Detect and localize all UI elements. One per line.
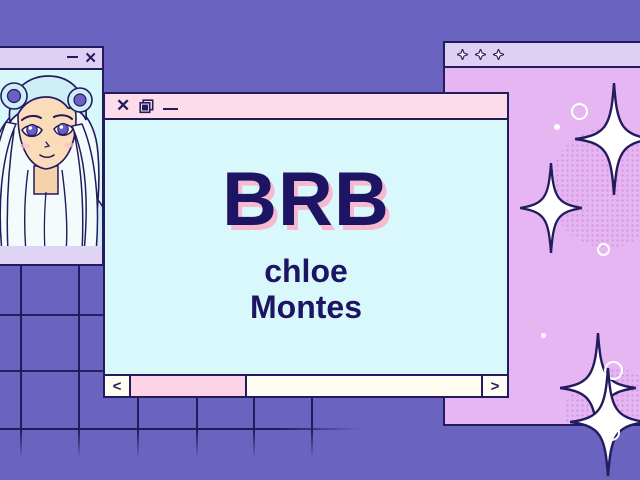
scrollbar-thumb[interactable] (131, 376, 247, 396)
brb-window[interactable]: ✕ BRB BRB chloe Montes < (103, 92, 509, 398)
restore-window-icon[interactable] (139, 99, 154, 114)
subtitle-line-1: chloe (264, 253, 348, 289)
minimize-icon[interactable] (67, 56, 78, 58)
dot-icon (554, 124, 560, 130)
brb-window-titlebar: ✕ (105, 94, 507, 120)
subtitle-line-2: Montes (250, 290, 362, 326)
anime-girl-illustration (0, 70, 102, 246)
diamond-sparkle-icon (457, 49, 468, 60)
scroll-right-button[interactable]: > (481, 376, 507, 396)
close-icon[interactable]: ✕ (116, 96, 130, 116)
outline-circle-icon (597, 243, 610, 256)
avatar-window-titlebar: ✕ (0, 48, 102, 70)
page-title-text: BRB (222, 157, 390, 242)
scroll-left-button[interactable]: < (105, 376, 131, 396)
horizontal-scrollbar[interactable]: < > (105, 374, 507, 396)
avatar-window-body (0, 70, 102, 264)
screenshot-canvas: ✕ (0, 0, 640, 480)
dot-icon (541, 333, 546, 338)
page-title: BRB BRB (222, 162, 390, 238)
four-point-star-icon (570, 368, 640, 476)
avatar-window[interactable]: ✕ (0, 46, 104, 266)
outline-circle-icon (603, 424, 620, 441)
sparkle-window-titlebar (445, 43, 640, 68)
brb-window-content: BRB BRB chloe Montes (105, 120, 507, 374)
subtitle: chloe Montes (250, 254, 362, 326)
minimize-icon[interactable] (163, 108, 178, 110)
four-point-star-icon (575, 83, 640, 195)
four-point-star-icon (520, 163, 582, 253)
diamond-sparkle-icon (475, 49, 486, 60)
scrollbar-track[interactable] (131, 376, 481, 396)
close-icon[interactable]: ✕ (84, 51, 97, 66)
diamond-sparkle-icon (493, 49, 504, 60)
outline-circle-icon (571, 103, 588, 120)
avatar-window-footer (0, 246, 102, 264)
